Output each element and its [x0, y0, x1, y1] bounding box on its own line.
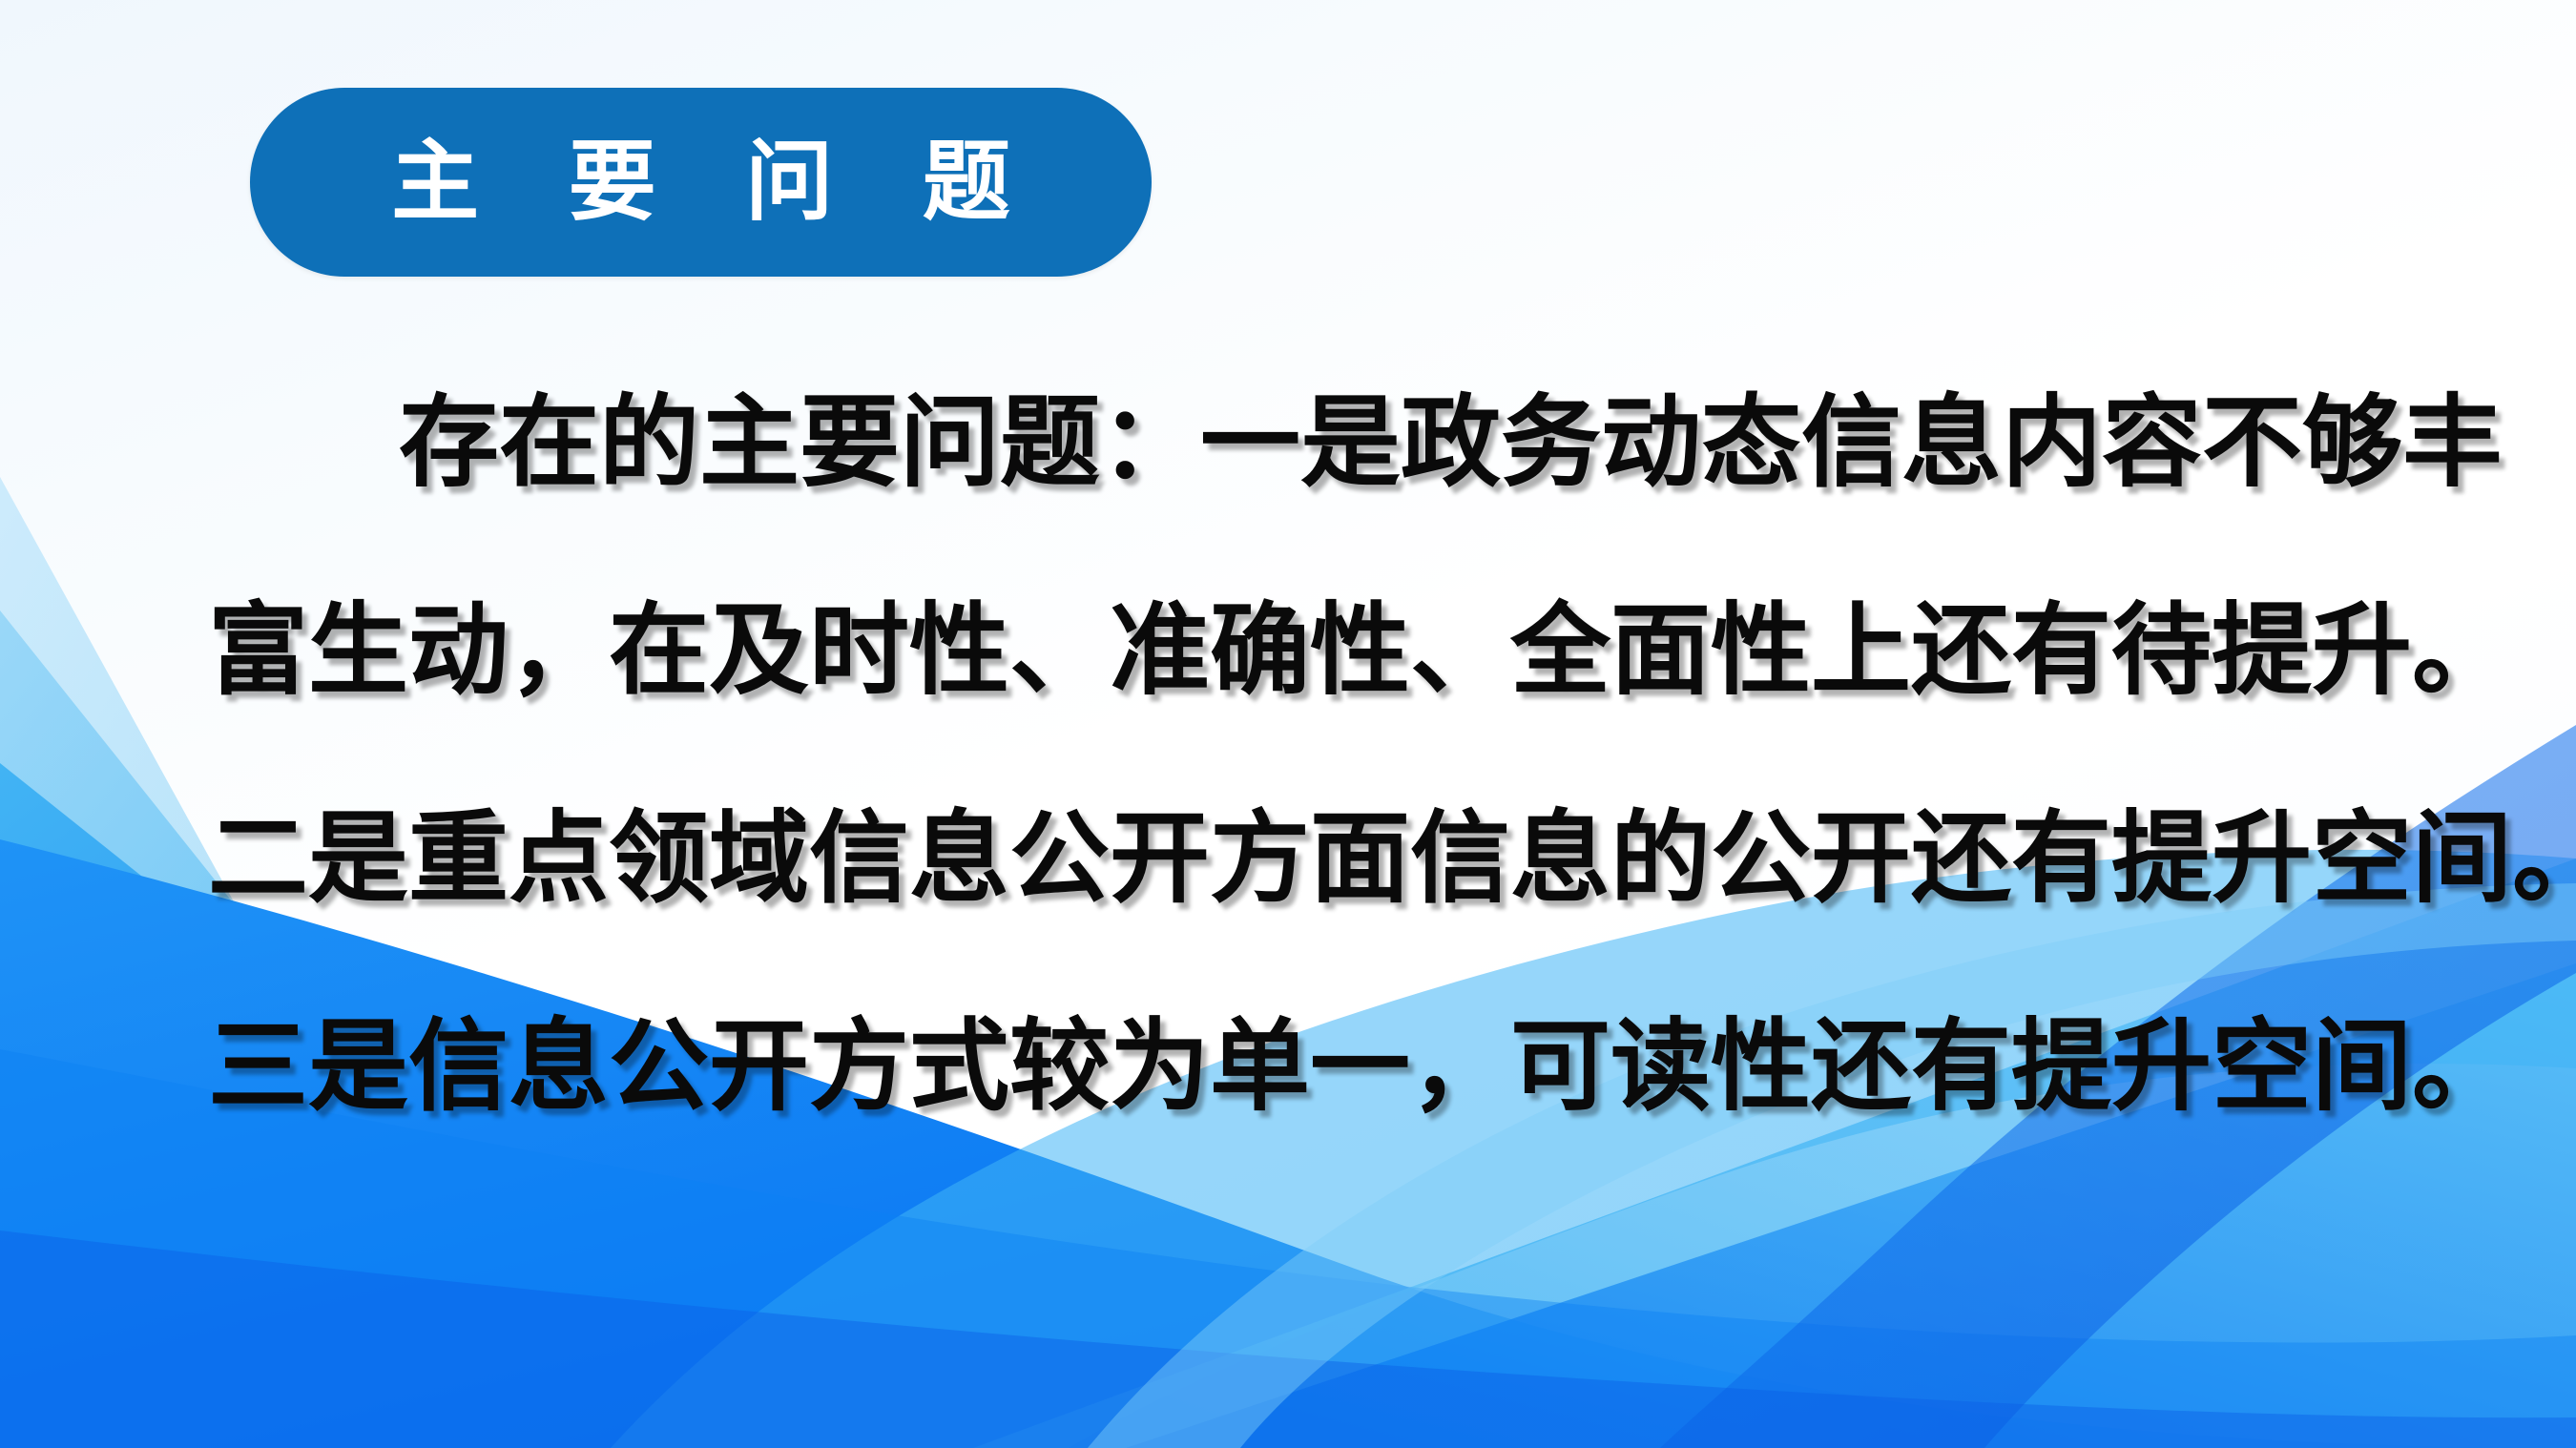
body-line-1: 存在的主要问题：一是政务动态信息内容不够丰 — [208, 340, 2421, 548]
body-line-3: 二是重点领域信息公开方面信息的公开还有提升空间。 — [208, 755, 2421, 963]
slide-title-pill: 主 要 问 题 — [250, 88, 1152, 277]
slide-canvas: 主 要 问 题 存在的主要问题：一是政务动态信息内容不够丰 富生动，在及时性、准… — [0, 0, 2576, 1448]
body-line-2: 富生动，在及时性、准确性、全面性上还有待提升。 — [208, 548, 2421, 755]
slide-title-text: 主 要 问 题 — [359, 138, 1043, 226]
slide-body-text: 存在的主要问题：一是政务动态信息内容不够丰 富生动，在及时性、准确性、全面性上还… — [208, 340, 2421, 1171]
body-line-4: 三是信息公开方式较为单一，可读性还有提升空间。 — [208, 963, 2421, 1171]
